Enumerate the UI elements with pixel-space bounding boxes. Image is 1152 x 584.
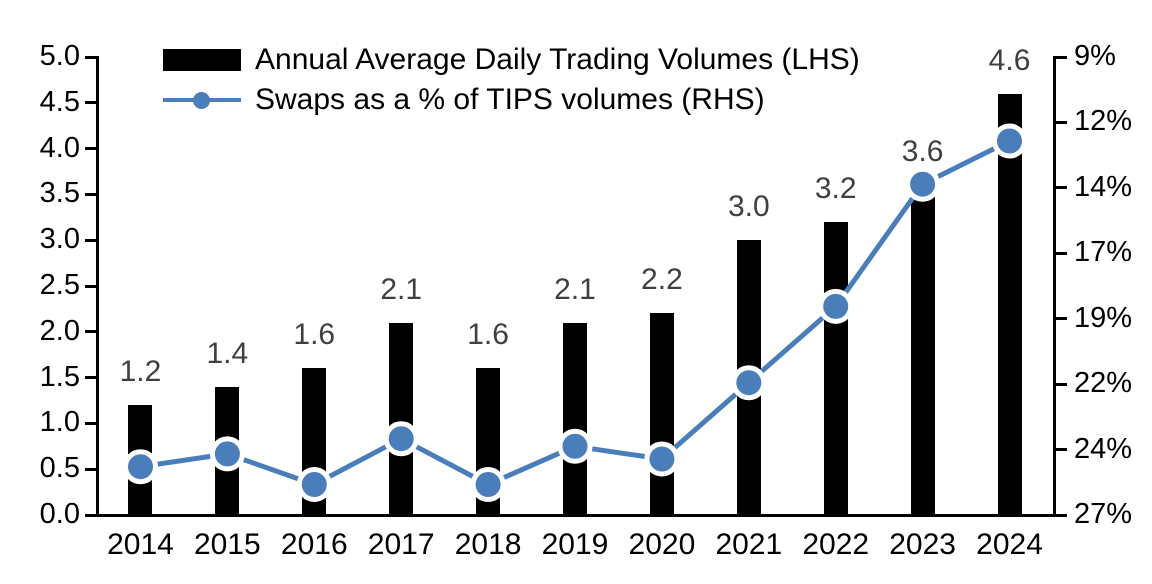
right-axis-tick-label: 22% [1074,369,1132,398]
bar [128,405,152,515]
legend-label-line-series: Swaps as a % of TIPS volumes (RHS) [255,85,765,115]
bar [563,323,587,515]
bar [998,94,1022,515]
category-label: 2018 [438,530,538,560]
left-axis-tick-label: 2.0 [0,317,80,346]
left-axis-tick-label: 3.5 [0,179,80,208]
right-axis-tick [1055,317,1067,320]
left-axis-tick [85,56,97,59]
bar [476,368,500,515]
right-axis-tick-label: 12% [1074,107,1132,136]
bar [737,240,761,515]
bar-data-label: 2.1 [530,275,620,305]
bar-data-label: 1.4 [182,339,272,369]
left-axis-tick [85,468,97,471]
left-axis-tick-label: 0.0 [0,500,80,529]
bar-data-label: 1.6 [269,320,359,350]
category-label: 2016 [264,530,364,560]
category-label: 2021 [699,530,799,560]
right-axis-tick [1055,121,1067,124]
right-axis-tick-label: 9% [1074,42,1116,71]
bar [650,313,674,515]
left-axis-tick-label: 3.0 [0,225,80,254]
bar [389,323,413,515]
category-label: 2019 [525,530,625,560]
category-label: 2022 [786,530,886,560]
bar-data-label: 3.0 [704,192,794,222]
right-axis-tick-label: 14% [1074,173,1132,202]
bar-data-label: 3.2 [791,174,881,204]
left-axis-tick-label: 0.5 [0,454,80,483]
chart-container: 0.00.51.01.52.02.53.03.54.04.55.0 9%12%1… [0,0,1152,584]
left-axis-tick [85,147,97,150]
bar-data-label: 2.2 [617,265,707,295]
left-axis-tick [85,101,97,104]
category-label: 2024 [960,530,1060,560]
right-axis-tick [1055,186,1067,189]
bar [824,222,848,515]
right-axis-tick [1055,252,1067,255]
right-axis-tick-label: 19% [1074,304,1132,333]
legend-item-line-series: Swaps as a % of TIPS volumes (RHS) [163,80,860,120]
bar-data-label: 4.6 [965,46,1055,76]
right-axis-tick-label: 24% [1074,435,1132,464]
left-axis-tick [85,193,97,196]
left-axis-tick [85,330,97,333]
legend-line-dot-swatch-icon [163,89,241,111]
right-axis-tick [1055,56,1067,59]
bar [215,387,239,515]
left-axis-tick [85,514,97,517]
legend-bar-swatch-icon [163,49,241,71]
category-label: 2015 [177,530,277,560]
left-axis-tick-label: 5.0 [0,42,80,71]
left-axis-tick-label: 1.5 [0,363,80,392]
bar-data-label: 3.6 [878,137,968,167]
right-axis-tick [1055,448,1067,451]
left-axis-tick-label: 4.5 [0,88,80,117]
bar-data-label: 2.1 [356,275,446,305]
bar-data-label: 1.6 [443,320,533,350]
category-label: 2014 [90,530,190,560]
left-axis-tick-label: 2.5 [0,271,80,300]
legend-label-bar-series: Annual Average Daily Trading Volumes (LH… [255,45,860,75]
left-axis-tick [85,285,97,288]
left-axis-tick [85,422,97,425]
category-label: 2023 [873,530,973,560]
right-axis-tick [1055,514,1067,517]
right-axis-tick-label: 27% [1074,500,1132,529]
bar-data-label: 1.2 [95,357,185,387]
bar [911,185,935,515]
chart-legend: Annual Average Daily Trading Volumes (LH… [163,40,860,120]
category-label: 2020 [612,530,712,560]
left-axis-tick [85,239,97,242]
left-axis-tick-label: 4.0 [0,134,80,163]
right-axis-tick [1055,383,1067,386]
bar [302,368,326,515]
category-label: 2017 [351,530,451,560]
legend-item-bar-series: Annual Average Daily Trading Volumes (LH… [163,40,860,80]
left-axis-tick-label: 1.0 [0,408,80,437]
right-axis-tick-label: 17% [1074,238,1132,267]
